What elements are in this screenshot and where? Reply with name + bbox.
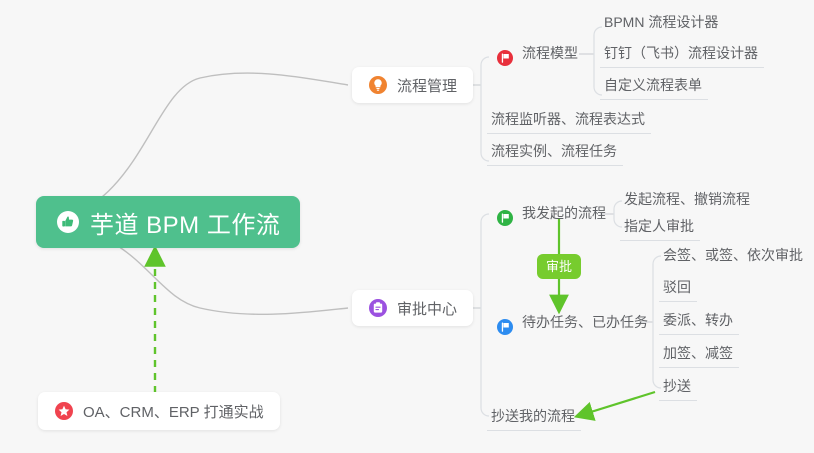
leaf-start-cancel-process-label: 发起流程、撤销流程 [624, 187, 750, 213]
leaf-add-remove-sign-label: 加签、减签 [663, 341, 733, 367]
lightbulb-icon [368, 75, 388, 95]
node-approval-center-label: 审批中心 [397, 298, 457, 319]
approval-callout[interactable]: 审批 [537, 254, 581, 279]
leaf-reject[interactable]: 驳回 [659, 274, 697, 302]
leaf-custom-process-form[interactable]: 自定义流程表单 [600, 72, 708, 100]
node-oa-crm-erp[interactable]: OA、CRM、ERP 打通实战 [38, 392, 280, 430]
leaf-start-cancel-process[interactable]: 发起流程、撤销流程 [620, 185, 756, 213]
leaf-cc-to-me-process[interactable]: 抄送我的流程 [487, 403, 581, 431]
leaf-cc-label: 抄送 [663, 374, 691, 400]
thumbs-up-icon [56, 210, 80, 234]
leaf-dingtalk-feishu-designer[interactable]: 钉钉（飞书）流程设计器 [600, 40, 764, 68]
root-node[interactable]: 芋道 BPM 工作流 [36, 196, 300, 248]
leaf-cc-to-me-process-label: 抄送我的流程 [491, 404, 575, 430]
node-process-model-label: 流程模型 [522, 41, 578, 67]
leaf-process-instance-task[interactable]: 流程实例、流程任务 [487, 138, 623, 166]
mindmap-canvas: 芋道 BPM 工作流 流程管理 流程模型 BPMN 流程设计器 钉钉（飞书 [0, 0, 814, 453]
node-my-started-process-label: 我发起的流程 [522, 201, 606, 227]
flag-icon-blue [496, 318, 514, 336]
approval-callout-label: 审批 [546, 259, 572, 274]
node-process-model[interactable]: 流程模型 [492, 39, 584, 67]
node-approval-center[interactable]: 审批中心 [352, 290, 473, 326]
node-todo-done-tasks[interactable]: 待办任务、已办任务 [492, 308, 654, 336]
node-process-management-label: 流程管理 [397, 75, 457, 96]
flag-icon-red [496, 49, 514, 67]
arrow-cc-to-process [578, 392, 655, 416]
node-oa-crm-erp-label: OA、CRM、ERP 打通实战 [83, 401, 264, 422]
leaf-bpmn-designer-label: BPMN 流程设计器 [604, 10, 718, 36]
leaf-cc[interactable]: 抄送 [659, 373, 697, 401]
leaf-custom-process-form-label: 自定义流程表单 [604, 73, 702, 99]
flag-icon-green [496, 209, 514, 227]
root-label: 芋道 BPM 工作流 [90, 205, 280, 240]
node-todo-done-tasks-label: 待办任务、已办任务 [522, 310, 648, 336]
leaf-dingtalk-feishu-designer-label: 钉钉（飞书）流程设计器 [604, 41, 758, 67]
leaf-add-remove-sign[interactable]: 加签、减签 [659, 340, 739, 368]
leaf-process-listener-expression[interactable]: 流程监听器、流程表达式 [487, 106, 651, 134]
leaf-delegate-transfer[interactable]: 委派、转办 [659, 307, 739, 335]
leaf-process-listener-expression-label: 流程监听器、流程表达式 [491, 107, 645, 133]
leaf-delegate-transfer-label: 委派、转办 [663, 308, 733, 334]
leaf-process-instance-task-label: 流程实例、流程任务 [491, 139, 617, 165]
leaf-bpmn-designer[interactable]: BPMN 流程设计器 [600, 8, 724, 36]
bracket-approval-center [481, 214, 489, 416]
leaf-assignee-approval[interactable]: 指定人审批 [620, 213, 700, 241]
leaf-countersign-orsign-sequential-label: 会签、或签、依次审批 [663, 243, 803, 269]
star-icon [54, 401, 74, 421]
node-process-management[interactable]: 流程管理 [352, 67, 473, 103]
leaf-countersign-orsign-sequential[interactable]: 会签、或签、依次审批 [659, 241, 809, 269]
leaf-assignee-approval-label: 指定人审批 [624, 214, 694, 240]
clipboard-icon [368, 298, 388, 318]
node-my-started-process[interactable]: 我发起的流程 [492, 199, 612, 227]
leaf-reject-label: 驳回 [663, 275, 691, 301]
